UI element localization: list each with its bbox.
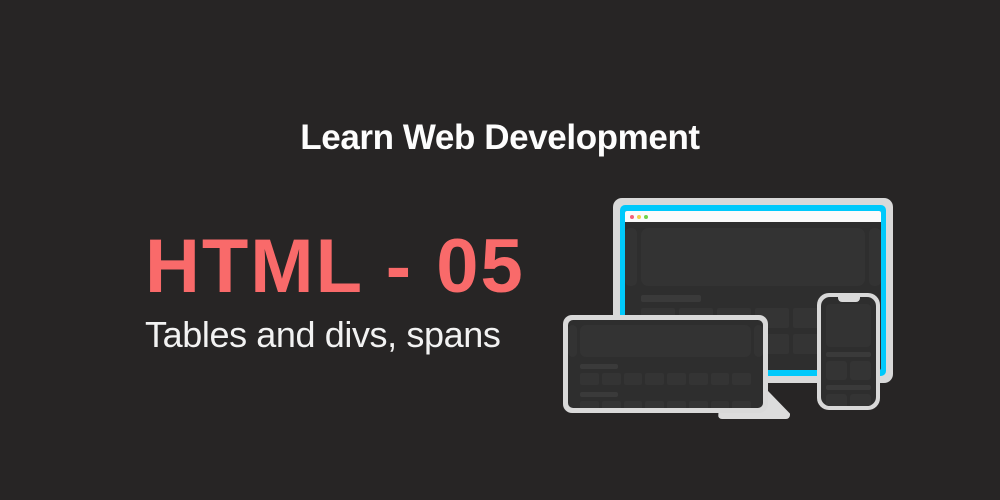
monitor-hero-block — [641, 228, 865, 286]
browser-title-bar — [625, 211, 881, 222]
page-title: Learn Web Development — [0, 118, 1000, 158]
tablet-card — [645, 373, 664, 385]
tablet-card — [580, 373, 599, 385]
tablet-card — [732, 373, 751, 385]
tablet-card-row — [580, 373, 751, 385]
monitor-right-rail — [869, 228, 881, 286]
devices-illustration — [540, 185, 940, 430]
tablet-left-rail — [568, 325, 577, 357]
slide-canvas: Learn Web Development HTML - 05 Tables a… — [0, 0, 1000, 500]
tablet-card — [624, 401, 643, 408]
tablet-hero-block — [580, 325, 751, 357]
phone-card — [826, 394, 847, 406]
phone-label-bar — [826, 385, 871, 390]
tablet-label-bar — [580, 364, 618, 369]
close-dot-icon — [630, 215, 634, 219]
tablet-card — [689, 401, 708, 408]
phone-card-row — [826, 361, 871, 380]
phone-card — [850, 394, 871, 406]
maximize-dot-icon — [644, 215, 648, 219]
tablet-icon — [563, 315, 768, 413]
phone-label-bar — [826, 352, 871, 357]
tablet-card — [645, 401, 664, 408]
monitor-label-bar — [641, 295, 701, 302]
phone-notch-icon — [838, 297, 860, 302]
tablet-card — [732, 401, 751, 408]
tablet-card — [602, 401, 621, 408]
tablet-screen-content — [568, 320, 763, 408]
phone-icon — [817, 293, 880, 410]
phone-card-row — [826, 394, 871, 406]
tablet-card — [580, 401, 599, 408]
minimize-dot-icon — [637, 215, 641, 219]
tablet-card — [711, 373, 730, 385]
lesson-subtitle: Tables and divs, spans — [145, 314, 565, 356]
lesson-title: HTML - 05 — [145, 232, 565, 302]
tablet-card — [667, 401, 686, 408]
phone-hero-block — [826, 304, 871, 347]
tablet-right-rail — [754, 325, 763, 357]
tablet-card — [711, 401, 730, 408]
tablet-card — [602, 373, 621, 385]
lesson-text-block: HTML - 05 Tables and divs, spans — [145, 232, 565, 356]
tablet-label-bar — [580, 392, 618, 397]
phone-card — [826, 361, 847, 380]
tablet-card — [689, 373, 708, 385]
tablet-card — [624, 373, 643, 385]
monitor-left-rail — [625, 228, 637, 286]
phone-card — [850, 361, 871, 380]
tablet-card — [667, 373, 686, 385]
tablet-card-row — [580, 401, 751, 408]
phone-screen-content — [821, 297, 876, 406]
